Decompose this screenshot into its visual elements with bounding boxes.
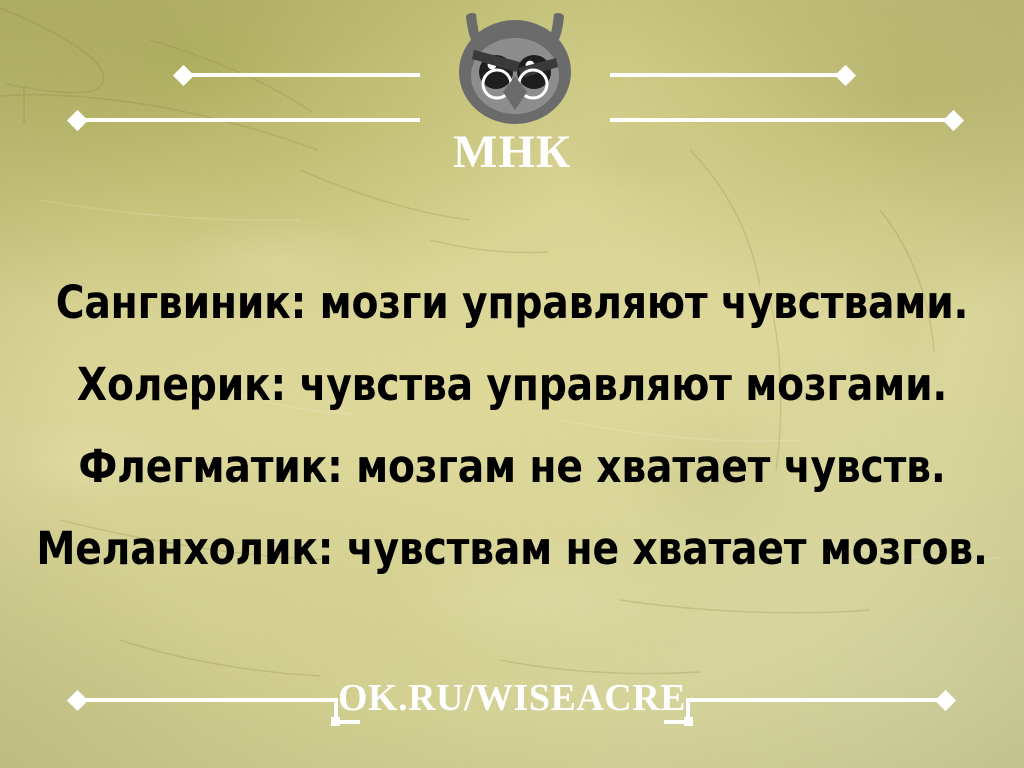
meme-card: МНК Сангвиник: мозги управляют чувствами… [0, 0, 1024, 768]
rule-top-left [188, 73, 420, 77]
footer-notch-left [331, 717, 340, 726]
diamond-top-left [173, 65, 194, 86]
rule-bottom-right [610, 118, 948, 122]
rule-bottom-left [82, 118, 420, 122]
rule-top-right [610, 73, 842, 77]
quote-line-choleric: Холерик: чувства управляют мозгами. [15, 344, 1008, 426]
quote-line-phlegmatic: Флегматик: мозгам не хватает чувств. [15, 426, 1008, 508]
diamond-top-right [835, 65, 856, 86]
quote-line-melancholic: Меланхолик: чувствам не хватает мозгов. [15, 508, 1008, 590]
footer-notch-right [684, 717, 693, 726]
quote-block: Сангвиник: мозги управляют чувствами. Хо… [15, 262, 1008, 590]
diamond-bottom-left [67, 110, 88, 131]
diamond-bottom-right [943, 110, 964, 131]
owl-icon [452, 10, 578, 128]
brand-title: МНК [0, 129, 1024, 176]
quote-line-sanguine: Сангвиник: мозги управляют чувствами. [15, 262, 1008, 344]
footer-bar-right [686, 698, 942, 702]
footer-bar-left [82, 698, 338, 702]
